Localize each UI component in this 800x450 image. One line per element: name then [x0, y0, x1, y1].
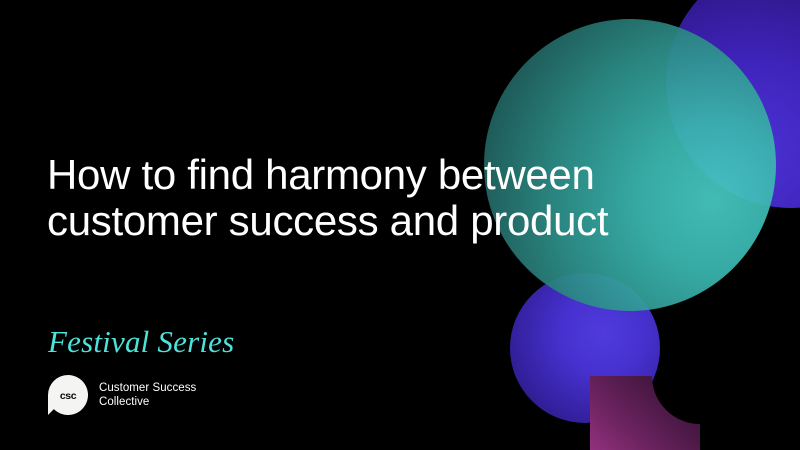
brand-lockup: csc Customer Success Collective — [48, 375, 196, 415]
csc-logo-wordmark: csc — [60, 390, 77, 402]
page-title: How to find harmony between customer suc… — [47, 152, 727, 244]
slide-content: How to find harmony between customer suc… — [0, 0, 800, 450]
slide-canvas: How to find harmony between customer suc… — [0, 0, 800, 450]
csc-logo-icon: csc — [48, 375, 88, 415]
series-label: Festival Series — [48, 325, 234, 359]
brand-name: Customer Success Collective — [99, 381, 196, 410]
